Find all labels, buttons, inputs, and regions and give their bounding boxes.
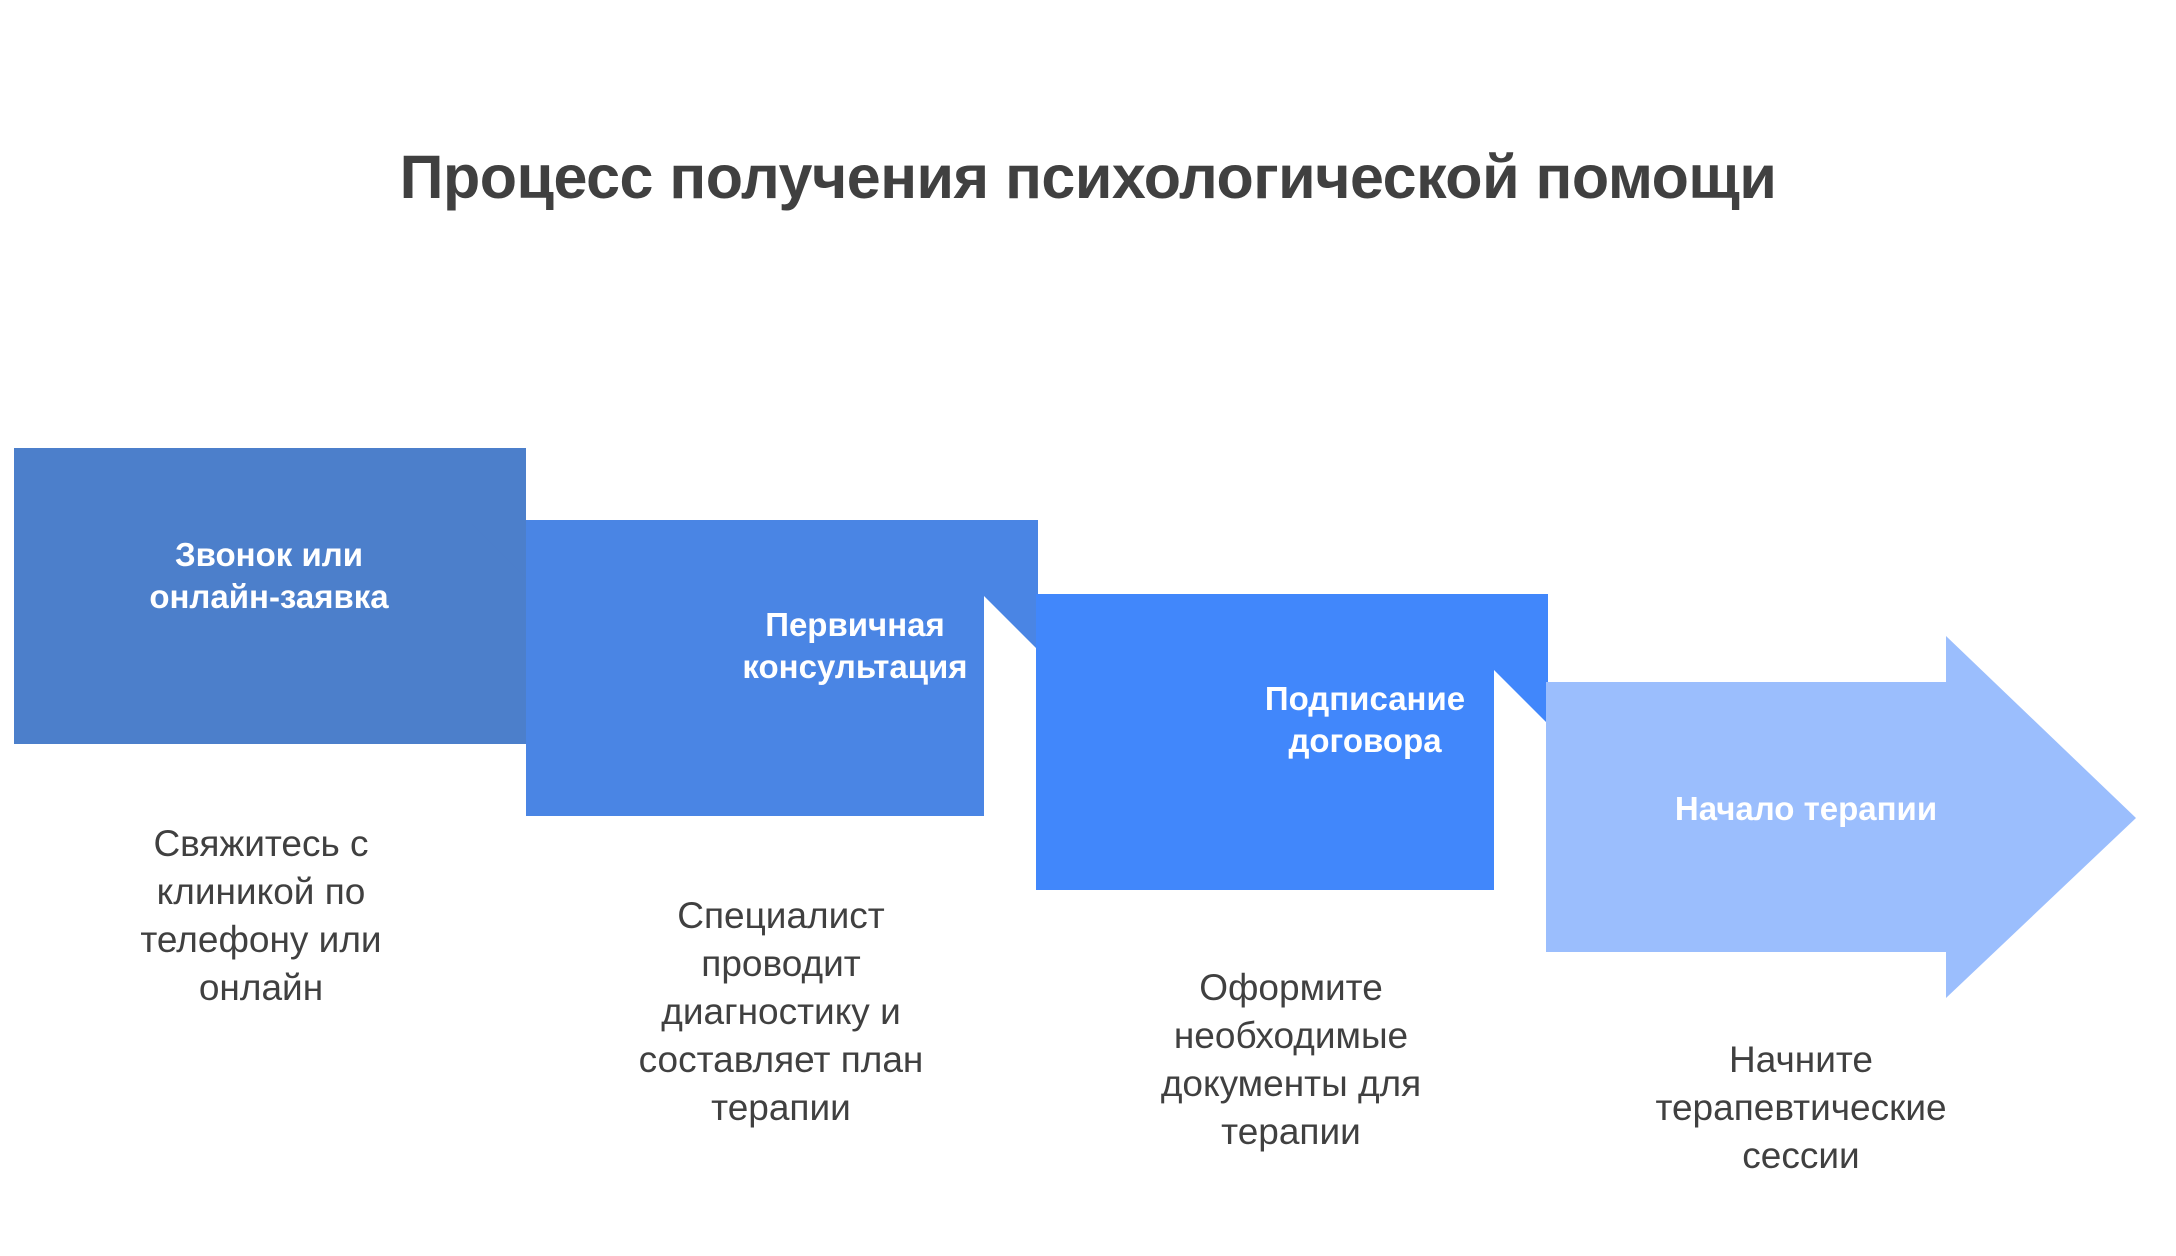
step-2-caption: Специалист проводит диагностику и состав… <box>546 892 1016 1132</box>
page-title: Процесс получения психологической помощи <box>0 142 2176 212</box>
step-4-caption: Начните терапевтические сессии <box>1566 1036 2036 1180</box>
slide-canvas: Процесс получения психологической помощи <box>0 0 2176 1256</box>
step-3-caption: Оформите необходимые документы для терап… <box>1056 964 1526 1156</box>
step-4-arrow-shape <box>1546 636 2166 1002</box>
step-1-caption: Свяжитесь с клиникой по телефону или онл… <box>36 820 486 1012</box>
process-step-4[interactable]: Начало терапии <box>1546 636 2146 998</box>
